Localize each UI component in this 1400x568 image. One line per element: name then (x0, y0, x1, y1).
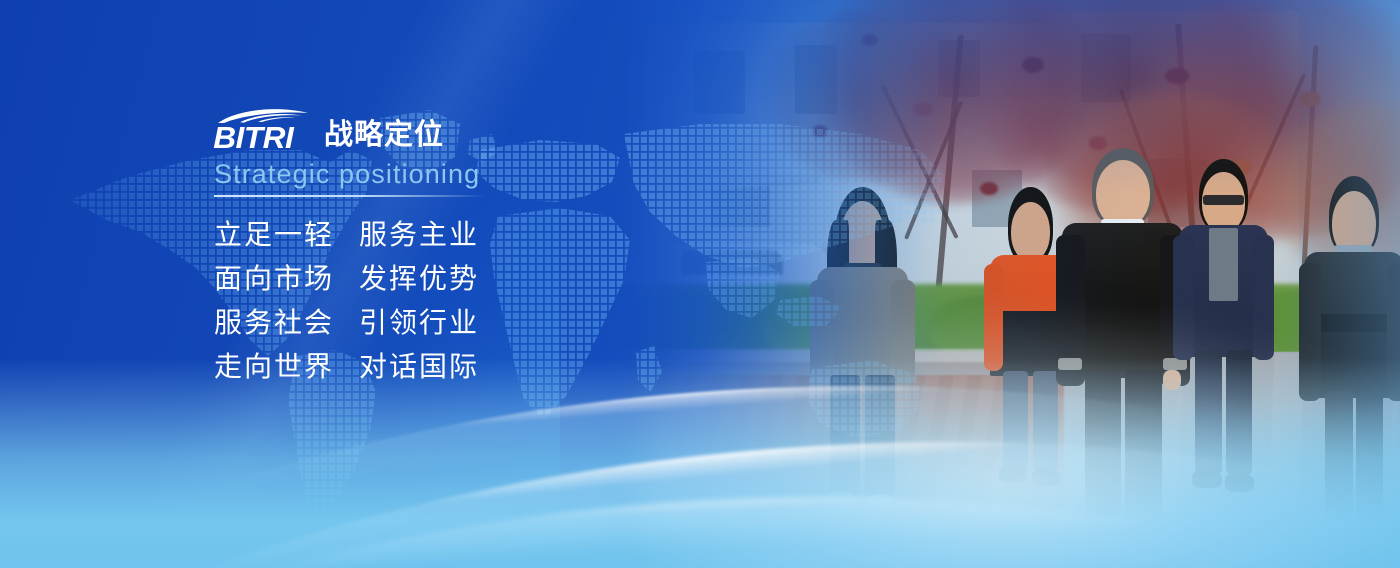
banner-content: BITRI 战略定位 Strategic positioning 立足一轻 服务… (214, 106, 644, 381)
slogan-left: 立足一轻 (214, 221, 359, 249)
strategic-positioning-banner: BITRI 战略定位 Strategic positioning 立足一轻 服务… (0, 0, 1400, 568)
brand-row: BITRI 战略定位 (214, 106, 644, 152)
slogan-right: 发挥优势 (359, 265, 479, 293)
slogan-right: 对话国际 (359, 353, 479, 381)
slogan-row: 面向市场 发挥优势 (214, 265, 644, 293)
title-underline (214, 195, 486, 197)
page-subtitle: Strategic positioning (214, 159, 644, 190)
page-title: 战略定位 (324, 121, 444, 152)
slogan-row: 走向世界 对话国际 (214, 353, 644, 381)
slogan-left: 服务社会 (214, 309, 359, 337)
slogan-right: 引领行业 (359, 309, 479, 337)
bitri-wordmark: BITRI (213, 122, 293, 153)
continent-japan (912, 190, 944, 226)
slogan-row: 服务社会 引领行业 (214, 309, 644, 337)
continent-asia (624, 124, 944, 268)
slogan-row: 立足一轻 服务主业 (214, 221, 644, 249)
bitri-logo[interactable]: BITRI (214, 108, 310, 152)
slogan-left: 面向市场 (214, 265, 359, 293)
slogan-left: 走向世界 (214, 353, 359, 381)
slogan-right: 服务主业 (359, 221, 479, 249)
slogan-list: 立足一轻 服务主业 面向市场 发挥优势 服务社会 引领行业 走向世界 对话国际 (214, 221, 644, 381)
